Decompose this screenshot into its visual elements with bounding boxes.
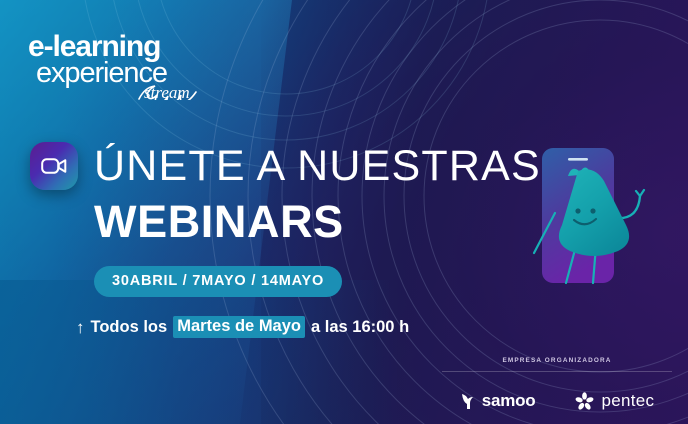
footer: EMPRESA ORGANIZADORA samoo: [442, 357, 672, 414]
organizer-label: EMPRESA ORGANIZADORA: [442, 357, 672, 364]
schedule-after: a las 16:00 h: [311, 318, 409, 337]
brand-pentec[interactable]: pentec: [555, 391, 674, 411]
arrow-up-icon: ↑: [76, 319, 85, 336]
mascot-hand: [636, 190, 644, 196]
headline-row: ÚNETE A NUESTRAS: [30, 140, 530, 192]
schedule-highlight: Martes de Mayo: [173, 316, 305, 338]
samoo-mark-icon: [460, 393, 475, 410]
headline-bold: WEBINARS: [94, 199, 530, 244]
phone-speaker: [568, 158, 588, 161]
webinar-promo-banner: e-learning experience stream ÚNETE A NUE…: [0, 0, 688, 424]
elearning-experience-logo[interactable]: e-learning experience stream: [26, 26, 216, 100]
mascot-illustration: [498, 128, 688, 313]
logo-script-text: stream: [144, 83, 190, 100]
date-badge: 30ABRIL / 7MAYO / 14MAYO: [94, 266, 342, 297]
footer-divider: [442, 371, 672, 372]
video-camera-icon: [30, 142, 78, 190]
pentec-pinwheel-icon: [575, 392, 594, 411]
hero-copy: ÚNETE A NUESTRAS WEBINARS 30ABRIL / 7MAY…: [30, 140, 530, 338]
mascot-eye-right: [590, 208, 595, 213]
brand-logos: samoo pentec: [442, 388, 672, 414]
schedule-line: ↑ Todos los Martes de Mayo a las 16:00 h: [76, 316, 530, 338]
brand-samoo[interactable]: samoo: [440, 391, 556, 411]
samoo-wordmark: samoo: [482, 391, 536, 411]
mascot-eye-left: [575, 208, 580, 213]
headline-light: ÚNETE A NUESTRAS: [94, 145, 541, 188]
pentec-wordmark: pentec: [601, 391, 654, 411]
schedule-before: Todos los: [91, 318, 168, 337]
